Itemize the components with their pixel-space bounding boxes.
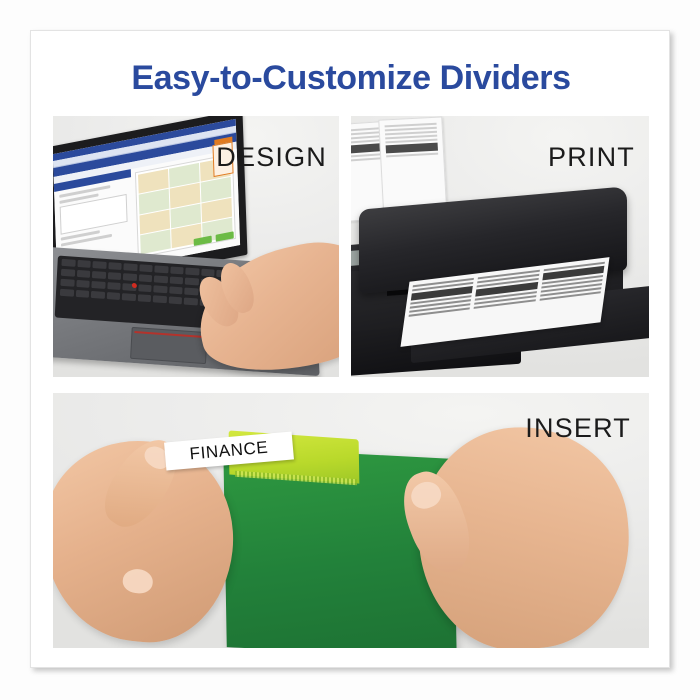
printed-column xyxy=(470,270,539,334)
keyboard-key xyxy=(108,262,122,270)
keyboard-key xyxy=(75,290,89,298)
keyboard-key xyxy=(92,271,106,279)
keyboard-key xyxy=(154,265,168,273)
panel-label-design: DESIGN xyxy=(216,142,327,173)
keyboard-key xyxy=(169,286,183,294)
keyboard-key xyxy=(184,297,198,305)
keyboard-key xyxy=(122,293,136,301)
keyboard-key xyxy=(153,285,167,293)
keyboard-key xyxy=(91,281,105,289)
printed-column xyxy=(536,262,605,326)
keyboard-key xyxy=(106,292,120,300)
keyboard-key xyxy=(77,260,91,268)
print-line xyxy=(386,153,438,158)
keyboard-key xyxy=(107,282,121,290)
screenshot-root: Easy-to-Customize Dividers xyxy=(0,0,700,700)
printed-column xyxy=(405,278,474,342)
panel-design: DESIGN xyxy=(53,116,339,377)
keyboard-key xyxy=(123,263,137,271)
keyboard-key xyxy=(153,295,167,303)
page-title: Easy-to-Customize Dividers xyxy=(31,59,671,98)
touchpad-accent-line xyxy=(134,331,204,338)
panel-print: PRINT xyxy=(351,116,649,377)
insert-label-text: FINANCE xyxy=(189,438,269,465)
keyboard-key xyxy=(138,284,152,292)
keyboard-key xyxy=(154,275,168,283)
keyboard-key xyxy=(76,280,90,288)
keyboard-key xyxy=(168,296,182,304)
keyboard-key xyxy=(169,276,183,284)
keyboard-key xyxy=(60,289,74,297)
panel-label-print: PRINT xyxy=(548,142,635,173)
print-block xyxy=(386,143,438,154)
fingernail xyxy=(407,478,444,513)
keyboard-key xyxy=(137,294,151,302)
trackpoint-nub xyxy=(132,283,137,288)
keyboard-key xyxy=(107,272,121,280)
keyboard-key xyxy=(201,269,215,277)
panel-label-insert: INSERT xyxy=(525,413,631,444)
label-cell xyxy=(140,229,171,254)
keyboard-key xyxy=(60,279,74,287)
keyboard-key xyxy=(91,291,105,299)
keyboard-key xyxy=(61,259,75,267)
keyboard-key xyxy=(61,269,75,277)
keyboard-key xyxy=(123,273,137,281)
fingernail xyxy=(122,568,154,595)
keyboard-key xyxy=(170,266,184,274)
keyboard-key xyxy=(184,288,198,296)
keyboard-key xyxy=(185,278,199,286)
keyboard-key xyxy=(76,270,90,278)
product-image-card: Easy-to-Customize Dividers xyxy=(30,30,670,668)
keyboard-key xyxy=(185,268,199,276)
panel-insert: FINANCE INSERT xyxy=(53,393,649,648)
keyboard-key xyxy=(139,264,153,272)
keyboard-key xyxy=(138,274,152,282)
laptop-touchpad xyxy=(130,327,208,364)
keyboard-key xyxy=(92,261,106,269)
